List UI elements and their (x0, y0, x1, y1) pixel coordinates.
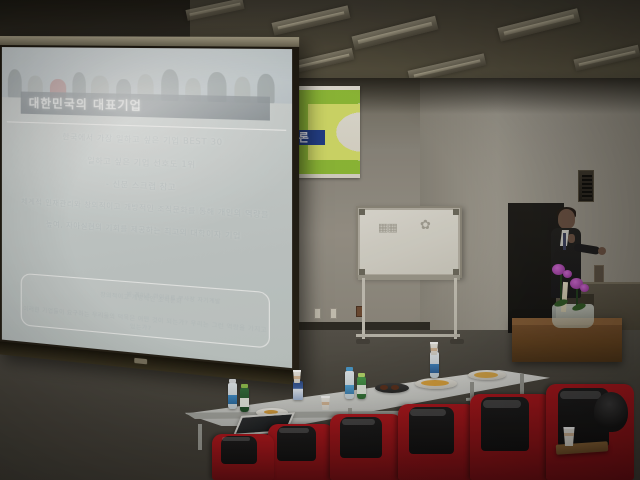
slide-body: 한국에서 가장 일하고 싶은 기업 BEST 30 일하고 싶은 기업 선호도 … (2, 129, 292, 257)
seat-3 (398, 404, 476, 480)
flower-bloom-2 (563, 270, 572, 278)
whiteboard: ▦▦ ✿ (356, 206, 462, 278)
screen-top-roller (0, 36, 299, 47)
wall-outlet-2 (330, 308, 337, 319)
whiteboard-foot-left (356, 339, 370, 344)
flower-bloom-4 (580, 284, 589, 292)
whiteboard-foot-right (450, 339, 464, 344)
seated-person-head (594, 392, 628, 432)
slide-title: 대한민국의 대표기업 (29, 95, 142, 114)
slide-body-line-2: 일하고 싶은 기업 선호도 1위 (2, 151, 292, 175)
wall-speaker-icon (578, 170, 594, 202)
presenter-tie (563, 233, 566, 250)
wall-outlet-1 (314, 308, 321, 319)
whiteboard-marker-tray (358, 275, 460, 280)
seat-2 (330, 414, 402, 480)
whiteboard-corner-tr (453, 209, 459, 215)
auditorium-seat-row (0, 350, 640, 480)
whiteboard-corner-tl (359, 209, 365, 215)
slide-body-line-1: 한국에서 가장 일하고 싶은 기업 BEST 30 (2, 129, 292, 151)
slide-divider (7, 121, 286, 130)
seat-4 (470, 394, 552, 480)
slide-body-line-4: 체계적 인재관리와 창의적이고 개방적인 조직문화를 통해 개인의 역량을 (2, 195, 292, 221)
seat-1 (268, 424, 334, 480)
slide-body-line-5: 높여, 자아실현의 기회를 제공하는 최고의 대학이자 기업 (2, 216, 292, 244)
slide-callout-box: 창의적이고 개방적인 조직문화 빌 게이츠 마이크로 부사장 자기계발 이러한 … (21, 273, 270, 349)
projection-screen: 대한민국의 대표기업 한국에서 가장 일하고 싶은 기업 BEST 30 일하고… (0, 36, 299, 385)
whiteboard-doodle-left: ▦▦ (378, 224, 397, 232)
presenter-hand (598, 247, 606, 255)
presenter-head (558, 209, 575, 229)
whiteboard-leg-left (362, 278, 365, 340)
whiteboard-cross-bar (356, 334, 460, 337)
flower-arrangement (540, 262, 602, 328)
whiteboard-surface (360, 210, 458, 274)
screen-surface: 대한민국의 대표기업 한국에서 가장 일하고 싶은 기업 BEST 30 일하고… (2, 47, 292, 368)
projected-slide: 대한민국의 대표기업 한국에서 가장 일하고 싶은 기업 BEST 30 일하고… (2, 47, 292, 368)
callout-bottom-note: 이러한 기업들이 요구하는 우리들의 덕목은 어떤 것이 되는가? 우리는 그런… (22, 304, 269, 343)
whiteboard-leg-right (454, 278, 457, 340)
presenter-microphone-hand (568, 234, 575, 243)
slide-body-line-3: - 신문 스크랩 참고 (2, 173, 292, 199)
whiteboard-doodle-right: ✿ (420, 222, 430, 230)
seat-6 (212, 434, 274, 480)
lecture-hall-photo: 수회 전략토론 한경대학교 ▦▦ ✿ (0, 0, 640, 480)
